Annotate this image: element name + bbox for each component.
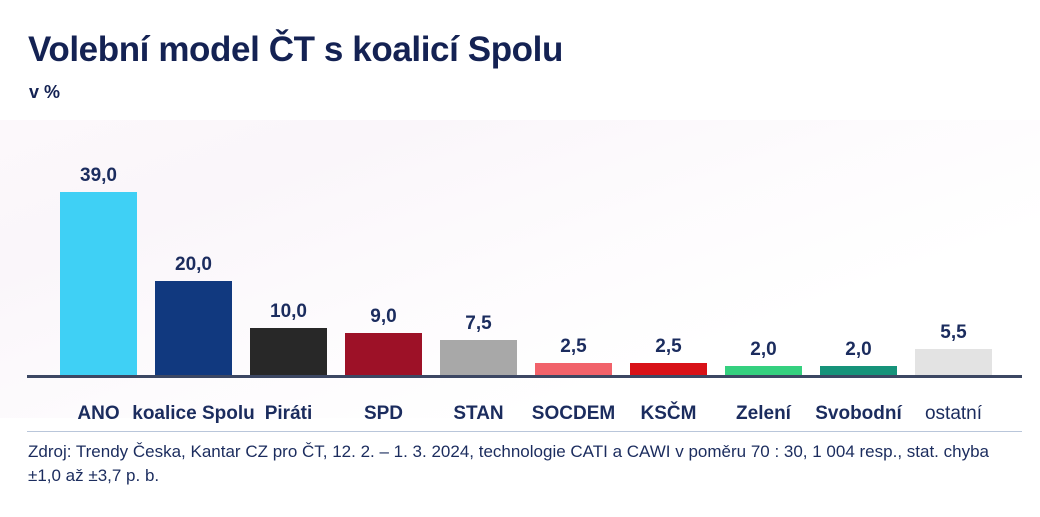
chart-poster: Volební model ČT s koalicí Spolu v % 39,… <box>0 0 1040 517</box>
chart-header: Volební model ČT s koalicí Spolu v % <box>0 0 1040 120</box>
bar-zelení[interactable] <box>725 366 802 375</box>
bar-stan[interactable] <box>440 340 517 375</box>
bar-socdem[interactable] <box>535 363 612 375</box>
footer-divider <box>27 431 1022 432</box>
x-axis-line <box>27 375 1022 378</box>
bar-svobodní[interactable] <box>820 366 897 375</box>
source-note: Zdroj: Trendy Česka, Kantar CZ pro ČT, 1… <box>28 440 1018 488</box>
bar-koalice-spolu[interactable] <box>155 281 232 375</box>
bar-piráti[interactable] <box>250 328 327 375</box>
bar-value-label: 5,5 <box>890 322 1017 344</box>
bar-value-label: 7,5 <box>415 313 542 335</box>
page-title: Volební model ČT s koalicí Spolu <box>28 30 563 70</box>
bar-ano[interactable] <box>60 192 137 375</box>
bar-value-label: 20,0 <box>130 254 257 276</box>
chart-unit-subtitle: v % <box>29 82 60 103</box>
bar-ostatní[interactable] <box>915 349 992 375</box>
bar-spd[interactable] <box>345 333 422 375</box>
bar-ksčm[interactable] <box>630 363 707 375</box>
bar-chart-plot: 39,0ANO20,0koalice Spolu10,0Piráti9,0SPD… <box>0 120 1040 418</box>
bar-value-label: 39,0 <box>35 165 162 187</box>
x-tick-label-ostatní: ostatní <box>882 403 1025 425</box>
